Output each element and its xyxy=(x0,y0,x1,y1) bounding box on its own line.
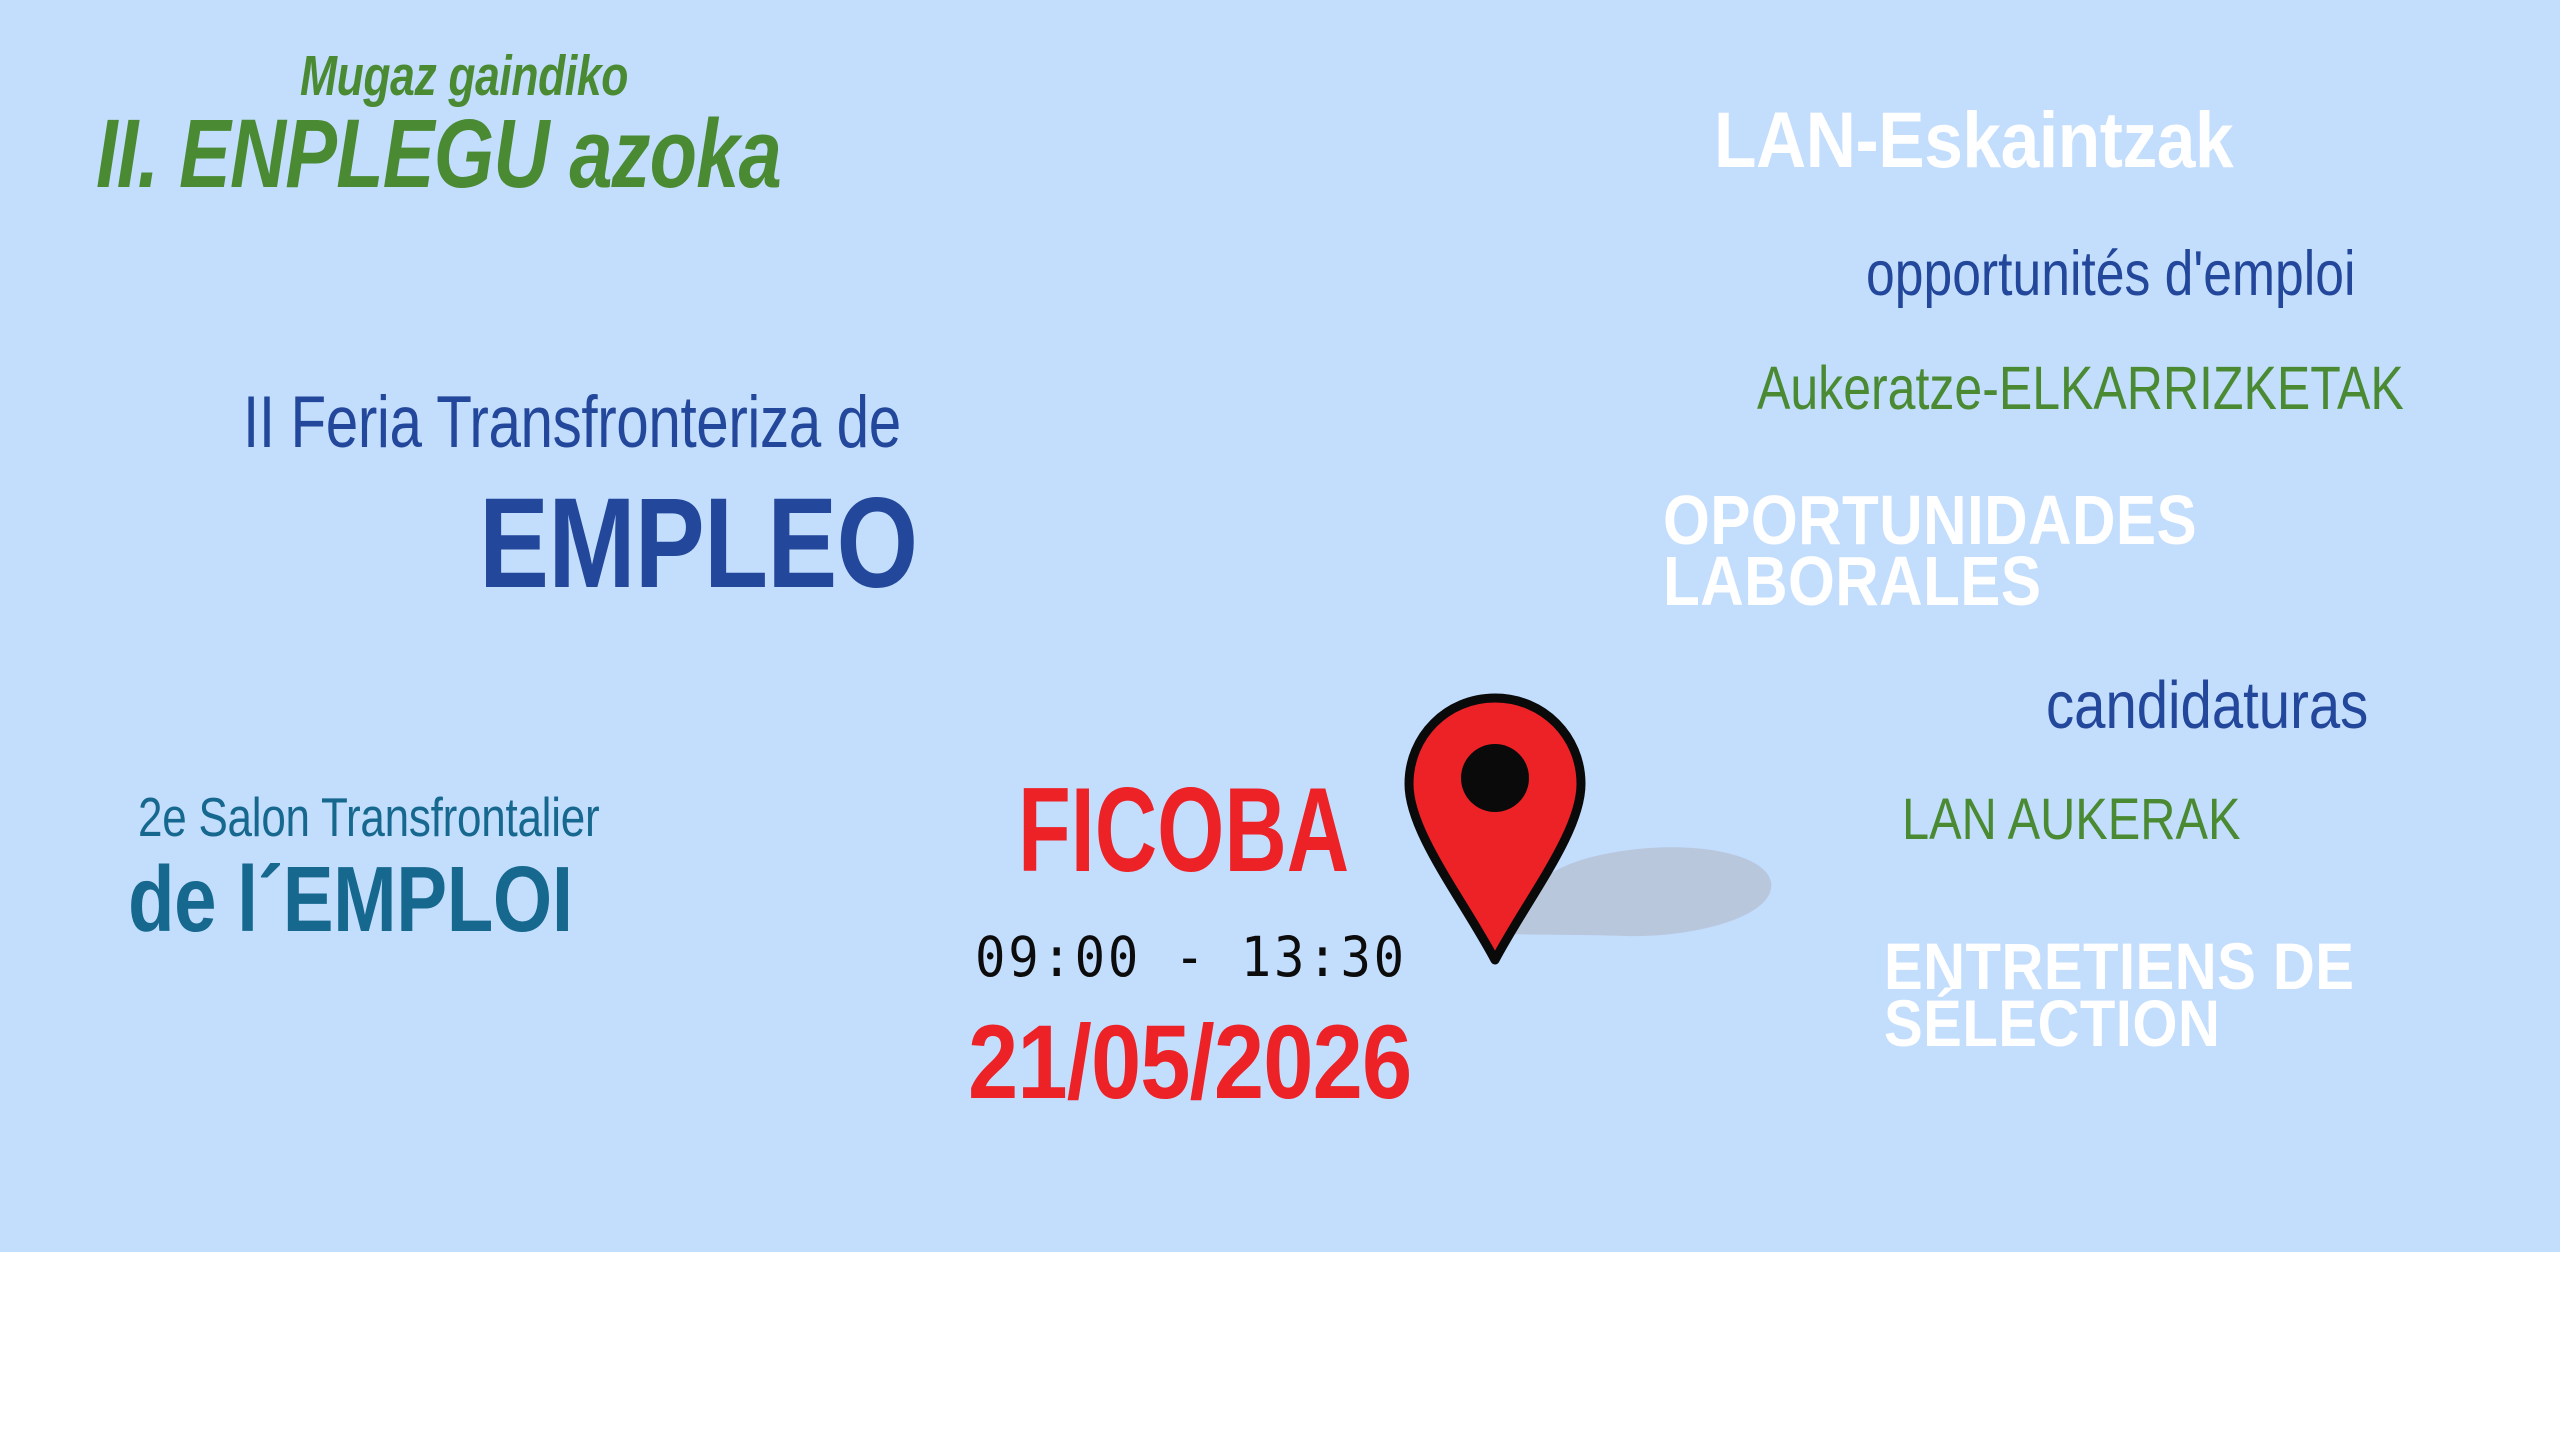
venue-date: 21/05/2026 xyxy=(968,1010,1411,1115)
footer-logo-bar: Bidasoa activa Bidasoa bizirik Ayuntamie… xyxy=(0,1252,2560,1440)
keyword-entretiens-line2: SÉLECTION xyxy=(1884,995,2354,1052)
keyword-lan-eskaintzak: LAN-Eskaintzak xyxy=(1714,100,2233,179)
poster-stage: Mugaz gaindiko II. ENPLEGU azoka II Feri… xyxy=(0,0,2560,1252)
venue-time: 09:00 - 13:30 xyxy=(975,930,1407,985)
basque-subtitle: Mugaz gaindiko xyxy=(300,48,628,105)
venue-name: FICOBA xyxy=(1018,770,1349,890)
keyword-oportunidades-laborales: OPORTUNIDADES LABORALES xyxy=(1663,490,2197,612)
keyword-oportunidades-line2: LABORALES xyxy=(1663,551,2197,612)
spanish-title: EMPLEO xyxy=(479,480,917,608)
french-subtitle: 2e Salon Transfrontalier xyxy=(138,790,599,845)
map-pin-icon xyxy=(1400,692,1590,967)
basque-title: II. ENPLEGU azoka xyxy=(96,105,781,202)
poster-root: Mugaz gaindiko II. ENPLEGU azoka II Feri… xyxy=(0,0,2560,1440)
keyword-aukeratze-elkarrizketak: Aukeratze-ELKARRIZKETAK xyxy=(1757,358,2404,419)
keyword-candidaturas: candidaturas xyxy=(2046,672,2368,739)
keyword-lan-aukerak: LAN AUKERAK xyxy=(1902,791,2240,849)
french-title: de l´EMPLOI xyxy=(128,853,573,946)
spanish-subtitle: II Feria Transfronteriza de xyxy=(243,386,901,459)
keyword-opportunites-emploi: opportunités d'emploi xyxy=(1866,243,2355,306)
keyword-entretiens-selection: ENTRETIENS DE SÉLECTION xyxy=(1884,938,2354,1053)
